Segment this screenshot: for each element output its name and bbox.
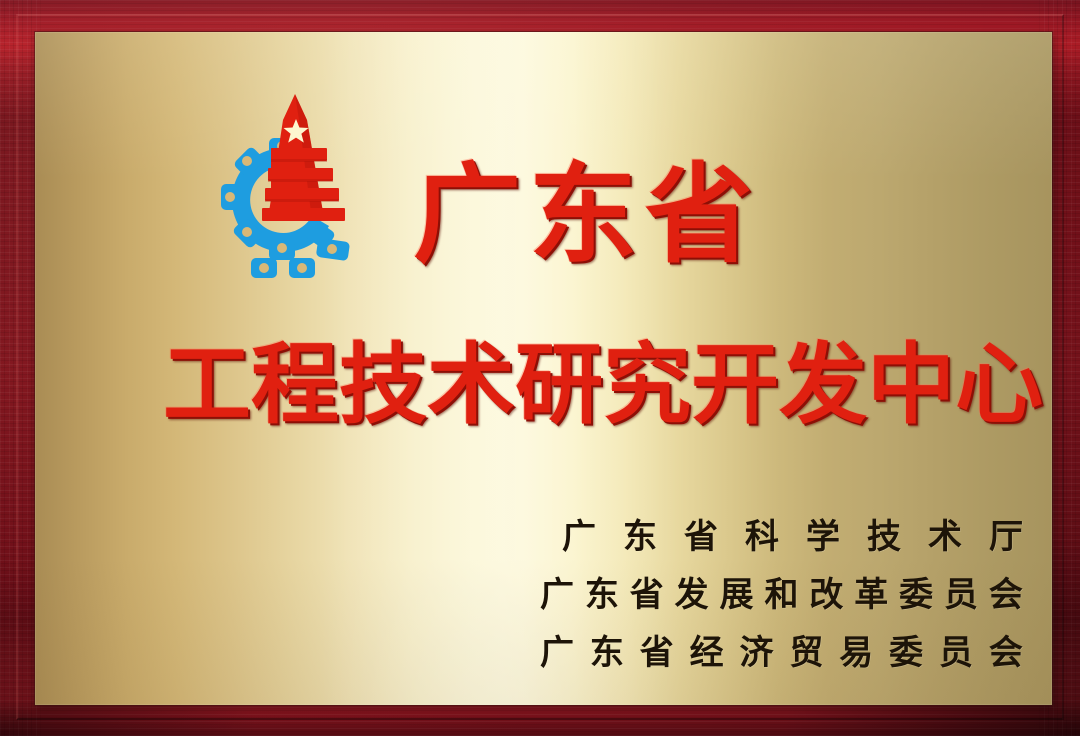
issuer-char: 委 bbox=[889, 625, 923, 674]
issuer-line-2: 广 东 省 发 展 和 改 革 委 员 会 bbox=[540, 562, 1023, 620]
issuer-char: 省 bbox=[630, 567, 664, 616]
issuer-char: 展 bbox=[720, 567, 754, 616]
title-char: 中 bbox=[867, 341, 955, 429]
title-char: 程 bbox=[251, 341, 339, 429]
issuer-char: 员 bbox=[939, 625, 973, 674]
issuer-char: 会 bbox=[989, 567, 1023, 616]
issuer-char: 济 bbox=[740, 625, 774, 674]
issuer-char: 省 bbox=[684, 509, 718, 558]
issuer-char: 学 bbox=[806, 509, 840, 558]
award-plaque: 广 东 省 工 程 技 术 研 究 开 发 中 心 广 东 省 科 学 技 bbox=[0, 0, 1080, 736]
title-char: 研 bbox=[515, 341, 603, 429]
issuer-char: 东 bbox=[623, 509, 657, 558]
title-char: 广 bbox=[413, 162, 521, 270]
title-char: 心 bbox=[955, 341, 1043, 429]
issuer-char: 经 bbox=[690, 625, 724, 674]
issuer-char: 改 bbox=[809, 567, 843, 616]
issuer-char: 广 bbox=[562, 509, 596, 558]
title-char: 究 bbox=[603, 341, 691, 429]
page-title-line-2: 工 程 技 术 研 究 开 发 中 心 bbox=[163, 332, 1021, 438]
title-char: 开 bbox=[691, 341, 779, 429]
issuer-char: 术 bbox=[928, 509, 962, 558]
issuer-char: 委 bbox=[899, 567, 933, 616]
issuer-char: 东 bbox=[585, 567, 619, 616]
issuer-char: 省 bbox=[640, 625, 674, 674]
issuer-char: 易 bbox=[839, 625, 873, 674]
issuer-char: 广 bbox=[540, 625, 574, 674]
issuer-char: 广 bbox=[540, 567, 574, 616]
title-char: 技 bbox=[339, 341, 427, 429]
erc-logo bbox=[211, 90, 357, 288]
issuer-line-1: 广 东 省 科 学 技 术 厅 bbox=[540, 504, 1023, 562]
issuer-char: 技 bbox=[867, 509, 901, 558]
gold-plate: 广 东 省 工 程 技 术 研 究 开 发 中 心 广 东 省 科 学 技 bbox=[35, 32, 1052, 705]
issuer-char: 和 bbox=[764, 567, 798, 616]
title-char: 工 bbox=[163, 341, 251, 429]
tower-monument-icon bbox=[262, 94, 345, 221]
issuer-signatures: 广 东 省 科 学 技 术 厅 广 东 省 发 展 和 改 革 委 员 会 bbox=[540, 504, 1023, 678]
title-char: 省 bbox=[645, 162, 753, 270]
title-char: 发 bbox=[779, 341, 867, 429]
issuer-char: 科 bbox=[745, 509, 779, 558]
issuer-char: 会 bbox=[989, 625, 1023, 674]
page-title-line-1: 广 东 省 bbox=[413, 147, 753, 285]
issuer-char: 贸 bbox=[789, 625, 823, 674]
issuer-char: 发 bbox=[675, 567, 709, 616]
issuer-char: 厅 bbox=[989, 509, 1023, 558]
issuer-line-3: 广 东 省 经 济 贸 易 委 员 会 bbox=[540, 620, 1023, 678]
title-char: 术 bbox=[427, 341, 515, 429]
issuer-char: 革 bbox=[854, 567, 888, 616]
title-char: 东 bbox=[529, 162, 637, 270]
issuer-char: 东 bbox=[590, 625, 624, 674]
issuer-char: 员 bbox=[944, 567, 978, 616]
